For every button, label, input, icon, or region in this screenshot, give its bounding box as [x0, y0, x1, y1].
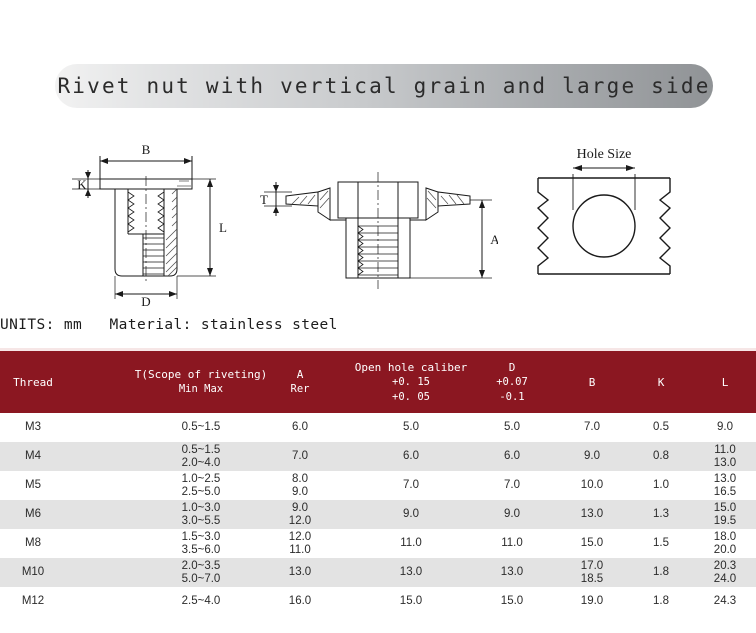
units-material-line: UNITS: mm Material: stainless steel	[0, 317, 756, 333]
cell-a-line: 12.0	[289, 531, 311, 544]
cell-k-line: 1.0	[653, 479, 669, 492]
cell-a-line: 11.0	[289, 544, 311, 557]
cell-thread-line: M5	[25, 479, 41, 492]
cell-d-line: 11.0	[501, 537, 523, 550]
cell-t-scope: 0.5~1.5	[150, 413, 252, 442]
cell-b: 17.018.5	[556, 558, 628, 587]
cell-thread-line: M6	[25, 508, 41, 521]
cell-open-hole-line: 15.0	[400, 595, 422, 608]
cell-l: 15.019.5	[694, 500, 756, 529]
cell-d: 5.0	[476, 413, 548, 442]
cell-a-line: 9.0	[292, 486, 308, 499]
cell-a-line: 8.0	[292, 473, 308, 486]
cell-k: 1.8	[626, 587, 696, 616]
cell-thread-line: M10	[22, 566, 44, 579]
hole-size-label: Hole Size	[577, 147, 632, 162]
cell-t-scope: 2.5~4.0	[150, 587, 252, 616]
cell-d: 6.0	[476, 442, 548, 471]
table-row: M61.0~3.03.0~5.59.012.09.09.013.01.315.0…	[0, 500, 756, 529]
cell-k: 0.8	[626, 442, 696, 471]
cell-k-line: 0.8	[653, 450, 669, 463]
cell-l-line: 24.3	[714, 595, 736, 608]
cell-b-line: 7.0	[584, 421, 600, 434]
cell-a: 13.0	[262, 558, 338, 587]
cell-t-scope-line: 3.5~6.0	[182, 544, 221, 557]
hole-size-svg: Hole Size	[518, 134, 718, 306]
column-header-d: D +0.07 -0.1	[476, 351, 548, 413]
cell-open-hole: 11.0	[348, 529, 474, 558]
cell-b-line: 10.0	[581, 479, 603, 492]
cell-b: 7.0	[556, 413, 628, 442]
rivet-nut-cross-section-drawing: B K D L	[58, 134, 248, 306]
cell-thread: M3	[2, 413, 64, 442]
cell-d-line: 9.0	[504, 508, 520, 521]
cell-b: 13.0	[556, 500, 628, 529]
cell-t-scope-line: 1.0~2.5	[182, 473, 221, 486]
dimension-label-a: A	[490, 232, 498, 247]
cell-b-line: 17.0	[581, 560, 603, 573]
specification-table: Thread T(Scope of riveting) Min Max A Re…	[0, 348, 756, 616]
hole-size-drawing: Hole Size	[518, 134, 718, 306]
table-row: M40.5~1.52.0~4.07.06.06.09.00.811.013.0	[0, 442, 756, 471]
title-banner: Rivet nut with vertical grain and large …	[55, 64, 713, 108]
column-header-t-scope: T(Scope of riveting) Min Max	[150, 351, 252, 413]
cell-t-scope-line: 5.0~7.0	[182, 573, 221, 586]
table-row: M102.0~3.55.0~7.013.013.013.017.018.51.8…	[0, 558, 756, 587]
cell-k-line: 1.3	[653, 508, 669, 521]
column-header-a: A Rer	[262, 351, 338, 413]
cell-d-line: 5.0	[504, 421, 520, 434]
cell-d: 15.0	[476, 587, 548, 616]
cell-l-line: 13.0	[714, 473, 736, 486]
cell-l-line: 20.3	[714, 560, 736, 573]
dimension-label-l: L	[219, 220, 227, 235]
cell-open-hole-line: 9.0	[403, 508, 419, 521]
cell-l: 9.0	[694, 413, 756, 442]
cell-thread: M8	[2, 529, 64, 558]
cell-a: 12.011.0	[262, 529, 338, 558]
cell-k: 1.8	[626, 558, 696, 587]
cell-t-scope-line: 2.0~3.5	[182, 560, 221, 573]
cell-a: 9.012.0	[262, 500, 338, 529]
table-body: M30.5~1.56.05.05.07.00.59.0M40.5~1.52.0~…	[0, 413, 756, 616]
cell-a-line: 12.0	[289, 515, 311, 528]
column-header-open-hole-caliber: Open hole caliber +0. 15 +0. 05	[348, 351, 474, 413]
table-row: M51.0~2.52.5~5.08.09.07.07.010.01.013.01…	[0, 471, 756, 500]
dimension-label-b: B	[142, 142, 151, 157]
cell-open-hole-line: 13.0	[400, 566, 422, 579]
dimension-label-d: D	[141, 294, 150, 306]
column-header-b: B	[556, 351, 628, 413]
cell-thread-line: M8	[25, 537, 41, 550]
cell-a: 7.0	[262, 442, 338, 471]
cell-a-line: 9.0	[292, 502, 308, 515]
cell-l: 18.020.0	[694, 529, 756, 558]
cell-l-line: 9.0	[717, 421, 733, 434]
cell-b: 19.0	[556, 587, 628, 616]
cell-k: 1.5	[626, 529, 696, 558]
cell-open-hole-line: 7.0	[403, 479, 419, 492]
cell-t-scope: 1.0~3.03.0~5.5	[150, 500, 252, 529]
cell-open-hole: 6.0	[348, 442, 474, 471]
cell-a-line: 13.0	[289, 566, 311, 579]
cell-thread: M10	[2, 558, 64, 587]
cell-k-line: 1.8	[653, 595, 669, 608]
cell-b-line: 13.0	[581, 508, 603, 521]
dimension-label-t: T	[260, 192, 268, 207]
page-title: Rivet nut with vertical grain and large …	[57, 74, 710, 98]
cell-thread-line: M12	[22, 595, 44, 608]
cell-thread: M12	[2, 587, 64, 616]
cell-d: 11.0	[476, 529, 548, 558]
cell-l-line: 20.0	[714, 544, 736, 557]
cell-d-line: 13.0	[501, 566, 523, 579]
cell-a: 6.0	[262, 413, 338, 442]
cell-thread-line: M4	[25, 450, 41, 463]
cell-a: 16.0	[262, 587, 338, 616]
cell-l-line: 11.0	[714, 444, 736, 457]
cell-l-line: 24.0	[714, 573, 736, 586]
cell-open-hole-line: 6.0	[403, 450, 419, 463]
cell-d: 9.0	[476, 500, 548, 529]
cell-l-line: 18.0	[714, 531, 736, 544]
cell-a-line: 7.0	[292, 450, 308, 463]
cell-open-hole: 5.0	[348, 413, 474, 442]
rivet-nut-installed-drawing: T A	[258, 134, 498, 306]
cell-l-line: 16.5	[714, 486, 736, 499]
cell-k-line: 1.8	[653, 566, 669, 579]
cell-l-line: 19.5	[714, 515, 736, 528]
cell-k: 1.3	[626, 500, 696, 529]
cell-t-scope-line: 2.0~4.0	[182, 457, 221, 470]
cell-t-scope-line: 2.5~5.0	[182, 486, 221, 499]
cell-k: 1.0	[626, 471, 696, 500]
cell-open-hole: 15.0	[348, 587, 474, 616]
cell-b: 10.0	[556, 471, 628, 500]
cell-a-line: 16.0	[289, 595, 311, 608]
cell-a-line: 6.0	[292, 421, 308, 434]
cell-t-scope: 1.5~3.03.5~6.0	[150, 529, 252, 558]
cell-t-scope-line: 0.5~1.5	[182, 421, 221, 434]
cell-l: 24.3	[694, 587, 756, 616]
installed-section-svg: T A	[258, 134, 498, 306]
cell-open-hole: 7.0	[348, 471, 474, 500]
column-header-l: L	[694, 351, 756, 413]
cell-l-line: 15.0	[714, 502, 736, 515]
column-header-k: K	[626, 351, 696, 413]
cell-l: 11.013.0	[694, 442, 756, 471]
cell-k-line: 0.5	[653, 421, 669, 434]
cell-thread-line: M3	[25, 421, 41, 434]
cell-open-hole: 9.0	[348, 500, 474, 529]
table-row: M122.5~4.016.015.015.019.01.824.3	[0, 587, 756, 616]
cell-l-line: 13.0	[714, 457, 736, 470]
dimension-label-k: K	[77, 177, 87, 192]
cell-l: 20.324.0	[694, 558, 756, 587]
cell-t-scope: 0.5~1.52.0~4.0	[150, 442, 252, 471]
cell-b: 15.0	[556, 529, 628, 558]
cell-b-line: 19.0	[581, 595, 603, 608]
cell-thread: M4	[2, 442, 64, 471]
cell-d-line: 15.0	[501, 595, 523, 608]
cell-open-hole: 13.0	[348, 558, 474, 587]
cell-thread: M6	[2, 500, 64, 529]
column-header-thread: Thread	[2, 351, 64, 413]
cell-open-hole-line: 5.0	[403, 421, 419, 434]
cell-d: 7.0	[476, 471, 548, 500]
table-row: M30.5~1.56.05.05.07.00.59.0	[0, 413, 756, 442]
cell-d: 13.0	[476, 558, 548, 587]
cell-t-scope: 1.0~2.52.5~5.0	[150, 471, 252, 500]
technical-drawings-strip: B K D L	[0, 134, 756, 306]
table-header-row: Thread T(Scope of riveting) Min Max A Re…	[0, 351, 756, 413]
cell-b-line: 15.0	[581, 537, 603, 550]
cell-t-scope: 2.0~3.55.0~7.0	[150, 558, 252, 587]
cell-t-scope-line: 1.5~3.0	[182, 531, 221, 544]
cell-k-line: 1.5	[653, 537, 669, 550]
cell-thread: M5	[2, 471, 64, 500]
cell-t-scope-line: 2.5~4.0	[182, 595, 221, 608]
cell-k: 0.5	[626, 413, 696, 442]
cell-t-scope-line: 3.0~5.5	[182, 515, 221, 528]
cross-section-svg: B K D L	[58, 134, 248, 306]
cell-a: 8.09.0	[262, 471, 338, 500]
cell-t-scope-line: 0.5~1.5	[182, 444, 221, 457]
cell-d-line: 7.0	[504, 479, 520, 492]
cell-l: 13.016.5	[694, 471, 756, 500]
table-row: M81.5~3.03.5~6.012.011.011.011.015.01.51…	[0, 529, 756, 558]
cell-b: 9.0	[556, 442, 628, 471]
cell-b-line: 18.5	[581, 573, 603, 586]
cell-b-line: 9.0	[584, 450, 600, 463]
cell-t-scope-line: 1.0~3.0	[182, 502, 221, 515]
cell-d-line: 6.0	[504, 450, 520, 463]
cell-open-hole-line: 11.0	[400, 537, 422, 550]
